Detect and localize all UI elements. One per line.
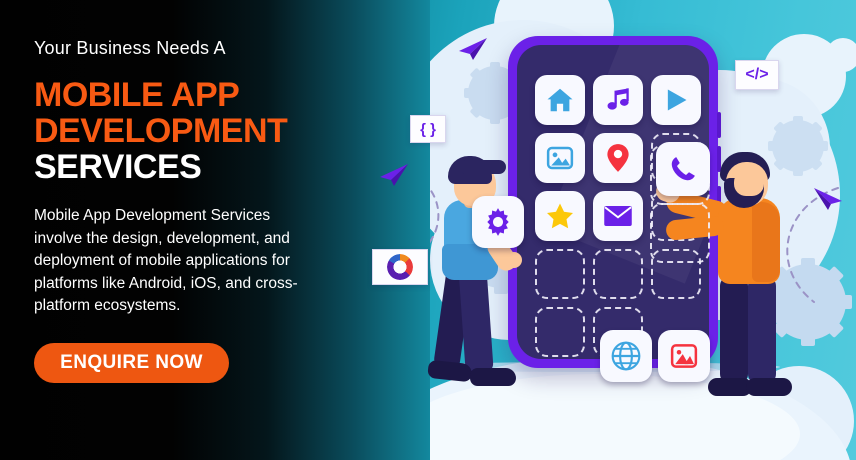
app-slot-empty[interactable]	[535, 249, 585, 299]
developer-left	[418, 148, 528, 400]
app-tile-favorites[interactable]	[535, 191, 585, 241]
app-tile-music[interactable]	[593, 75, 643, 125]
left-dev-cap-brim	[462, 160, 506, 174]
dock-tile-gallery[interactable]	[658, 330, 710, 382]
curly-braces-badge: { }	[410, 115, 446, 143]
star-icon	[545, 201, 575, 231]
paper-plane-icon	[812, 186, 846, 212]
headline-line-2: DEVELOPMENT	[34, 113, 334, 149]
app-tile-play[interactable]	[651, 75, 701, 125]
app-tile-phone-call[interactable]	[656, 142, 710, 196]
headline-line-3: SERVICES	[34, 149, 334, 185]
gear-tile[interactable]	[472, 196, 524, 248]
developer-right	[700, 140, 810, 402]
home-icon	[545, 85, 575, 115]
app-tile-home[interactable]	[535, 75, 585, 125]
photo-icon	[545, 143, 575, 173]
right-dev-face	[734, 170, 764, 196]
app-slot-empty[interactable]	[593, 249, 643, 299]
envelope-icon	[603, 204, 633, 228]
eyebrow-text: Your Business Needs A	[34, 38, 334, 59]
right-dev-shoe-front	[746, 378, 792, 396]
mobile-app-development-banner: Your Business Needs A MOBILE APP DEVELOP…	[0, 0, 856, 460]
app-slot-empty[interactable]	[535, 307, 585, 357]
app-slot-target-outline	[650, 203, 710, 263]
app-tile-maps[interactable]	[593, 133, 643, 183]
play-icon	[662, 86, 690, 114]
decor-circle-small-right	[826, 38, 856, 72]
page-title: MOBILE APP DEVELOPMENT SERVICES	[34, 77, 334, 185]
paper-plane-icon	[455, 36, 489, 62]
left-dev-hand	[502, 252, 522, 268]
code-tag-badge: </>	[735, 60, 779, 90]
app-tile-photos[interactable]	[535, 133, 585, 183]
gear-icon	[482, 206, 514, 238]
donut-chart-badge	[372, 249, 428, 285]
app-tile-mail[interactable]	[593, 191, 643, 241]
dock-tiles	[600, 330, 710, 382]
donut-chart-icon	[387, 254, 413, 280]
dock-tile-browser[interactable]	[600, 330, 652, 382]
music-note-icon	[604, 86, 632, 114]
phone-volume-up-button[interactable]	[717, 112, 721, 138]
phone-call-icon	[668, 154, 698, 184]
description-text: Mobile App Development Services involve …	[34, 205, 302, 317]
image-icon	[669, 341, 699, 371]
right-dev-leg-back	[720, 276, 748, 384]
banner-copy-block: Your Business Needs A MOBILE APP DEVELOP…	[34, 38, 334, 383]
right-dev-leg-front	[748, 276, 776, 384]
headline-line-1: MOBILE APP	[34, 77, 334, 113]
location-pin-icon	[604, 143, 632, 173]
left-dev-shoe-front	[470, 368, 516, 386]
right-dev-torso-shade	[752, 202, 780, 282]
paper-plane-icon	[376, 162, 410, 188]
globe-icon	[610, 340, 642, 372]
enquire-now-button[interactable]: ENQUIRE NOW	[34, 343, 229, 383]
